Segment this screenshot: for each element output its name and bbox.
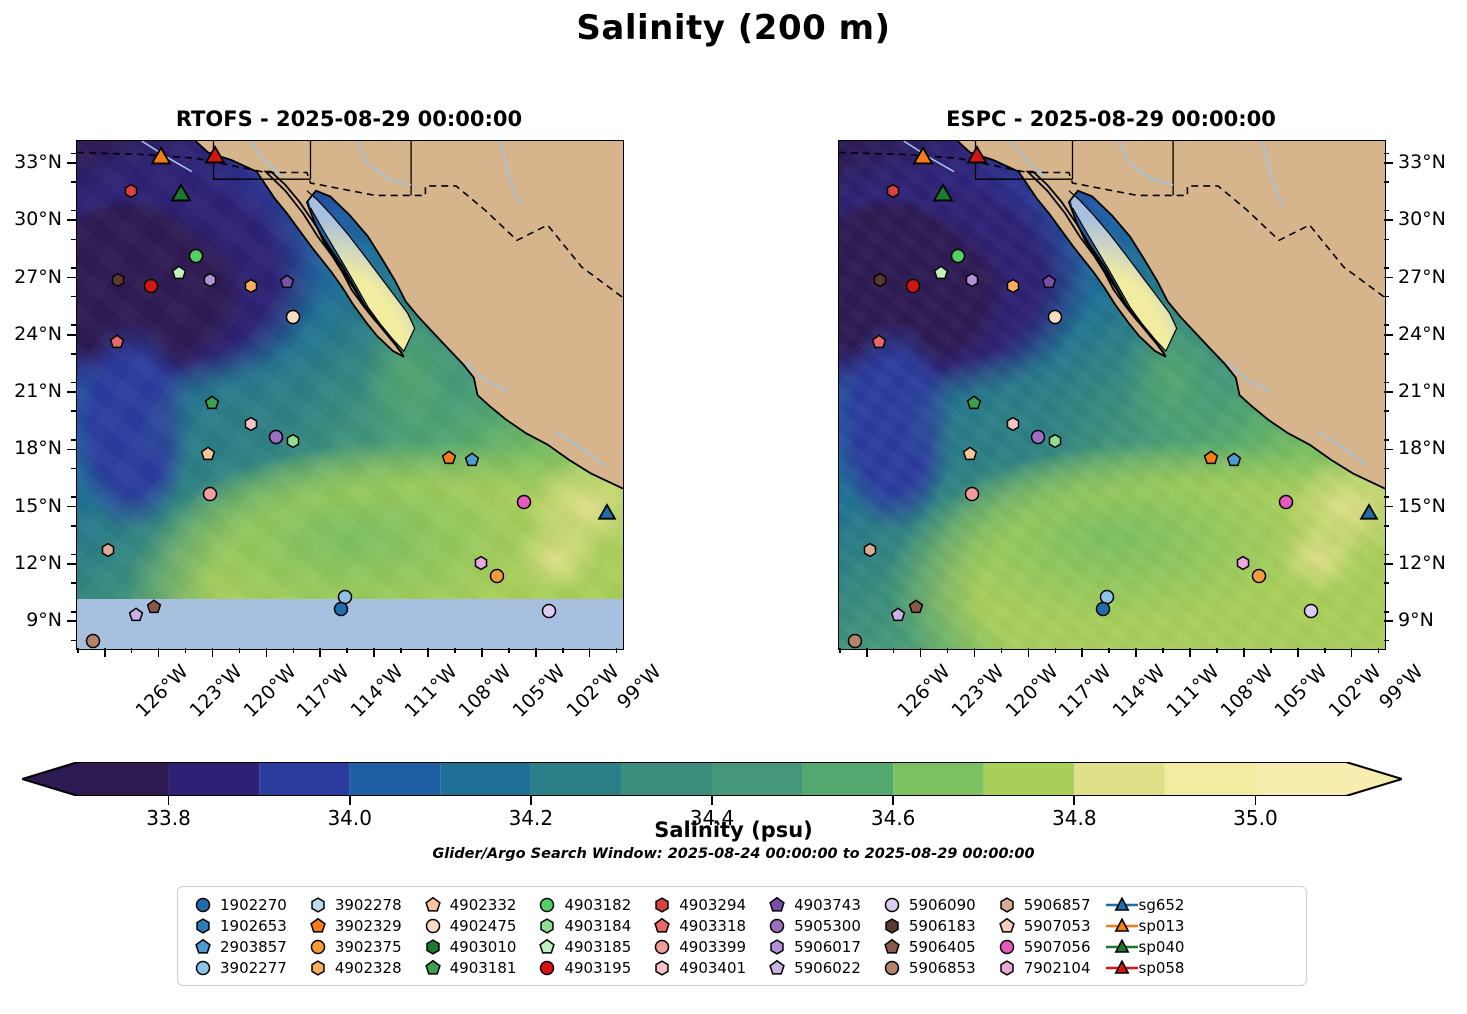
legend-item-5906183[interactable]: 5906183: [875, 915, 976, 936]
marker-1902270[interactable]: [1094, 600, 1111, 617]
colorbar-tick: [530, 796, 532, 805]
legend-marker-4903294: [645, 894, 679, 915]
legend-label: 5906857: [1024, 896, 1091, 914]
legend-item-4903195[interactable]: 4903195: [530, 957, 631, 978]
marker-4903399[interactable]: [963, 486, 980, 503]
legend-item-5906090[interactable]: 5906090: [875, 894, 976, 915]
colorbar-segment: [984, 762, 1075, 796]
legend-item-4903294[interactable]: 4903294: [645, 894, 746, 915]
x-axis-label: 99°W: [614, 662, 665, 713]
legend-label: 4903318: [679, 917, 746, 935]
marker-sp040[interactable]: [170, 184, 191, 205]
x-minor-tick: [77, 648, 79, 653]
marker-sp013[interactable]: [913, 147, 934, 168]
legend-marker-1902653: [186, 915, 220, 936]
marker-4903184[interactable]: [1046, 433, 1062, 449]
colorbar-segment: [621, 762, 712, 796]
colorbar-extend-max: [1346, 762, 1402, 796]
marker-3902329[interactable]: [441, 450, 457, 466]
marker-3902329[interactable]: [1203, 450, 1219, 466]
marker-5906405[interactable]: [146, 599, 162, 615]
legend-marker-5907056: [990, 936, 1024, 957]
marker-5907056[interactable]: [516, 493, 533, 510]
colorbar-segment: [1165, 762, 1256, 796]
marker-4903182[interactable]: [949, 247, 966, 264]
y-minor-tick: [1384, 382, 1389, 384]
y-minor-tick: [1384, 410, 1389, 412]
legend-label: 4903399: [679, 938, 746, 956]
legend-item-1902270[interactable]: 1902270: [186, 894, 287, 915]
legend-item-7902104[interactable]: 7902104: [990, 957, 1091, 978]
legend-marker-4903401: [645, 957, 679, 978]
legend-label: 3902329: [335, 917, 402, 935]
x-axis-label: 120°W: [1002, 662, 1061, 721]
y-axis-label: 30°N: [0, 210, 62, 229]
legend-item-4903182[interactable]: 4903182: [530, 894, 631, 915]
x-minor-tick: [1108, 648, 1110, 653]
legend-marker-5906405: [875, 936, 909, 957]
legend-item-4903743[interactable]: 4903743: [760, 894, 861, 915]
marker-4903743[interactable]: [279, 274, 295, 290]
legend-label: 4903294: [679, 896, 746, 914]
legend-marker-sp013: [1105, 915, 1139, 936]
legend-item-5906853[interactable]: 5906853: [875, 957, 976, 978]
y-minor-tick: [71, 382, 76, 384]
legend-marker-5905300: [760, 915, 794, 936]
legend-label: sp058: [1139, 959, 1185, 977]
y-minor-tick: [71, 181, 76, 183]
marker-4903743[interactable]: [1041, 274, 1057, 290]
legend-label: 4903182: [564, 896, 631, 914]
marker-4903294[interactable]: [123, 182, 139, 198]
x-tick: [373, 648, 375, 657]
x-minor-tick: [562, 648, 564, 653]
y-tick: [1384, 391, 1393, 393]
x-tick: [481, 648, 483, 657]
colorbar-segment: [712, 762, 803, 796]
y-axis-label: 21°N: [0, 382, 62, 401]
y-minor-tick: [1384, 525, 1389, 527]
coastline-overlay: [77, 141, 623, 649]
y-minor-tick: [1384, 468, 1389, 470]
marker-5906183[interactable]: [110, 272, 126, 288]
legend-marker-1902270: [186, 894, 220, 915]
y-axis-label: 27°N: [1398, 268, 1467, 287]
legend-item-5906405[interactable]: 5906405: [875, 936, 976, 957]
colorbar-segment: [1074, 762, 1165, 796]
y-axis-label: 21°N: [1398, 382, 1467, 401]
legend-item-sp040[interactable]: sp040: [1105, 936, 1185, 957]
y-minor-tick: [71, 239, 76, 241]
marker-5906022[interactable]: [890, 606, 906, 622]
marker-sp040[interactable]: [932, 184, 953, 205]
marker-5906853[interactable]: [846, 633, 863, 650]
legend-column: 4903294490331849033994903401: [645, 894, 746, 978]
y-minor-tick: [71, 611, 76, 613]
platform-legend: 1902270190265329038573902277390227839023…: [177, 886, 1307, 986]
x-tick: [1189, 648, 1191, 657]
marker-5906022[interactable]: [128, 606, 144, 622]
x-axis-label: 117°W: [1056, 662, 1115, 721]
x-axis-label: 123°W: [949, 662, 1008, 721]
marker-sg652[interactable]: [597, 504, 616, 523]
x-axis-label: 126°W: [133, 662, 192, 721]
y-tick: [67, 277, 76, 279]
legend-item-4902475[interactable]: 4902475: [416, 915, 517, 936]
legend-marker-3902329: [301, 915, 335, 936]
marker-5906857[interactable]: [99, 541, 115, 557]
marker-2903857[interactable]: [464, 452, 480, 468]
y-axis-label: 24°N: [1398, 325, 1467, 344]
legend-label: 4903184: [564, 917, 631, 935]
x-axis-label: 114°W: [348, 662, 407, 721]
colorbar-tick: [1255, 796, 1257, 805]
x-tick: [1243, 648, 1245, 657]
x-axis-label: 117°W: [294, 662, 353, 721]
legend-marker-3902375: [301, 936, 335, 957]
y-axis-label: 9°N: [0, 611, 62, 630]
y-minor-tick: [1384, 611, 1389, 613]
x-minor-tick: [508, 648, 510, 653]
colorbar-segment: [893, 762, 984, 796]
x-minor-tick: [346, 648, 348, 653]
y-axis-label: 18°N: [1398, 439, 1467, 458]
marker-4903182[interactable]: [187, 247, 204, 264]
x-tick: [1297, 648, 1299, 657]
colorbar-segment: [531, 762, 622, 796]
y-minor-tick: [1384, 153, 1389, 155]
y-minor-tick: [71, 496, 76, 498]
colorbar-tick: [892, 796, 894, 805]
y-tick: [1384, 334, 1393, 336]
legend-item-4903184[interactable]: 4903184: [530, 915, 631, 936]
legend-item-4902328[interactable]: 4902328: [301, 957, 402, 978]
y-minor-tick: [71, 640, 76, 642]
legend-marker-4902475: [416, 915, 450, 936]
legend-marker-sp040: [1105, 936, 1139, 957]
colorbar-tick: [711, 796, 713, 805]
marker-4903401[interactable]: [1005, 415, 1021, 431]
map-espc[interactable]: [838, 140, 1386, 650]
y-minor-tick: [71, 296, 76, 298]
y-tick: [1384, 219, 1393, 221]
marker-5906857[interactable]: [861, 541, 877, 557]
y-axis-label: 12°N: [0, 554, 62, 573]
marker-5906405[interactable]: [908, 599, 924, 615]
x-tick: [1081, 648, 1083, 657]
map-rtofs[interactable]: [76, 140, 624, 650]
y-minor-tick: [71, 582, 76, 584]
marker-4902475[interactable]: [284, 308, 301, 325]
x-minor-tick: [239, 648, 241, 653]
x-minor-tick: [1162, 648, 1164, 653]
legend-label: 5906090: [909, 896, 976, 914]
legend-label: 4902328: [335, 959, 402, 977]
marker-4903181[interactable]: [204, 394, 220, 410]
y-minor-tick: [1384, 210, 1389, 212]
marker-sg652[interactable]: [1359, 504, 1378, 523]
marker-5906017[interactable]: [202, 272, 218, 288]
legend-column: 3902278390232939023754902328: [301, 894, 402, 978]
y-minor-tick: [1384, 496, 1389, 498]
y-axis-label: 15°N: [0, 497, 62, 516]
marker-5906853[interactable]: [84, 633, 101, 650]
marker-4903185[interactable]: [171, 265, 187, 281]
legend-marker-7902104: [990, 957, 1024, 978]
legend-item-3902375[interactable]: 3902375: [301, 936, 402, 957]
marker-7902104[interactable]: [1235, 555, 1251, 571]
legend-item-4903181[interactable]: 4903181: [416, 957, 517, 978]
x-axis-label: 105°W: [1272, 662, 1331, 721]
x-axis-label: 120°W: [240, 662, 299, 721]
legend-item-3902278[interactable]: 3902278: [301, 894, 402, 915]
colorbar-segment: [169, 762, 260, 796]
y-axis-label: 15°N: [1398, 497, 1467, 516]
x-minor-tick: [293, 648, 295, 653]
legend-marker-5907053: [990, 915, 1024, 936]
legend-label: 5906853: [909, 959, 976, 977]
legend-label: 5906022: [794, 959, 861, 977]
y-tick: [1384, 277, 1393, 279]
y-tick: [67, 449, 76, 451]
page-title: Salinity (200 m): [0, 8, 1467, 48]
y-minor-tick: [1384, 554, 1389, 556]
colorbar-tick: [349, 796, 351, 805]
legend-column: 4903182490318449031854903195: [530, 894, 631, 978]
legend-item-4903185[interactable]: 4903185: [530, 936, 631, 957]
marker-5906017[interactable]: [964, 272, 980, 288]
x-minor-tick: [131, 648, 133, 653]
legend-marker-3902278: [301, 894, 335, 915]
marker-5905300[interactable]: [1030, 428, 1047, 445]
x-axis-label: 114°W: [1110, 662, 1169, 721]
x-axis-label: 105°W: [510, 662, 569, 721]
marker-2903857[interactable]: [1226, 452, 1242, 468]
y-minor-tick: [71, 153, 76, 155]
x-minor-tick: [1216, 648, 1218, 653]
legend-item-5907056[interactable]: 5907056: [990, 936, 1091, 957]
legend-label: 5907056: [1024, 938, 1091, 956]
x-minor-tick: [1270, 648, 1272, 653]
colorbar-segment: [440, 762, 531, 796]
y-tick: [67, 391, 76, 393]
legend-label: 3902277: [220, 959, 287, 977]
marker-5906090[interactable]: [1303, 602, 1320, 619]
legend-marker-4903181: [416, 957, 450, 978]
y-tick: [1384, 620, 1393, 622]
legend-marker-2903857: [186, 936, 220, 957]
x-minor-tick: [893, 648, 895, 653]
x-minor-tick: [185, 648, 187, 653]
legend-marker-4903184: [530, 915, 564, 936]
marker-4903184[interactable]: [284, 433, 300, 449]
marker-4903399[interactable]: [201, 486, 218, 503]
legend-label: 5906017: [794, 938, 861, 956]
marker-4903318[interactable]: [870, 333, 886, 349]
x-tick: [1351, 648, 1353, 657]
x-tick: [920, 648, 922, 657]
y-minor-tick: [1384, 296, 1389, 298]
y-axis-label: 30°N: [1398, 210, 1467, 229]
marker-4902332[interactable]: [962, 446, 978, 462]
marker-4903195[interactable]: [904, 277, 921, 294]
marker-5907056[interactable]: [1278, 493, 1295, 510]
legend-item-3902277[interactable]: 3902277: [186, 957, 287, 978]
y-minor-tick: [71, 267, 76, 269]
legend-marker-4903182: [530, 894, 564, 915]
marker-3902375[interactable]: [489, 568, 506, 585]
legend-label: 3902278: [335, 896, 402, 914]
legend-item-5907053[interactable]: 5907053: [990, 915, 1091, 936]
legend-item-sp058[interactable]: sp058: [1105, 957, 1185, 978]
x-axis-label: 102°W: [1326, 662, 1385, 721]
legend-item-5905300[interactable]: 5905300: [760, 915, 861, 936]
marker-4902328[interactable]: [243, 278, 259, 294]
legend-marker-4903185: [530, 936, 564, 957]
legend-grid: 1902270190265329038573902277390227839023…: [186, 894, 1298, 978]
legend-label: 5905300: [794, 917, 861, 935]
x-axis-label: 111°W: [1164, 662, 1223, 721]
legend-marker-5906853: [875, 957, 909, 978]
y-minor-tick: [1384, 353, 1389, 355]
legend-marker-5906022: [760, 957, 794, 978]
y-tick: [1384, 506, 1393, 508]
x-axis-label: 108°W: [456, 662, 515, 721]
legend-column: 4902332490247549030104903181: [416, 894, 517, 978]
legend-item-3902329[interactable]: 3902329: [301, 915, 402, 936]
y-minor-tick: [1384, 439, 1389, 441]
x-axis-label: 123°W: [187, 662, 246, 721]
legend-label: 4902332: [450, 896, 517, 914]
marker-sp058[interactable]: [967, 146, 988, 167]
legend-marker-3902277: [186, 957, 220, 978]
legend-item-5906022[interactable]: 5906022: [760, 957, 861, 978]
x-minor-tick: [400, 648, 402, 653]
x-tick: [212, 648, 214, 657]
legend-label: 1902270: [220, 896, 287, 914]
legend-item-5906857[interactable]: 5906857: [990, 894, 1091, 915]
marker-4903294[interactable]: [885, 182, 901, 198]
y-minor-tick: [1384, 640, 1389, 642]
legend-item-5906017[interactable]: 5906017: [760, 936, 861, 957]
marker-sp013[interactable]: [151, 147, 172, 168]
marker-4903195[interactable]: [142, 277, 159, 294]
panel-title-espc: ESPC - 2025-08-29 00:00:00: [838, 107, 1384, 131]
marker-5906183[interactable]: [872, 272, 888, 288]
marker-4903185[interactable]: [933, 265, 949, 281]
legend-item-4902332[interactable]: 4902332: [416, 894, 517, 915]
marker-4902332[interactable]: [200, 446, 216, 462]
x-tick: [974, 648, 976, 657]
legend-label: 4903185: [564, 938, 631, 956]
legend-item-sg652[interactable]: sg652: [1105, 894, 1185, 915]
marker-4902475[interactable]: [1046, 308, 1063, 325]
legend-item-4903401[interactable]: 4903401: [645, 957, 746, 978]
y-tick: [1384, 449, 1393, 451]
marker-sp058[interactable]: [205, 146, 226, 167]
y-tick: [67, 219, 76, 221]
legend-item-sp013[interactable]: sp013: [1105, 915, 1185, 936]
colorbar-segment: [78, 762, 169, 796]
x-axis-label: 111°W: [402, 662, 461, 721]
colorbar-svg: [22, 762, 1402, 796]
legend-item-4903318[interactable]: 4903318: [645, 915, 746, 936]
legend-item-1902653[interactable]: 1902653: [186, 915, 287, 936]
colorbar-segment: [350, 762, 441, 796]
marker-4902328[interactable]: [1005, 278, 1021, 294]
y-minor-tick: [71, 554, 76, 556]
legend-marker-4903399: [645, 936, 679, 957]
y-tick: [67, 334, 76, 336]
x-tick: [427, 648, 429, 657]
colorbar-segment: [259, 762, 350, 796]
y-tick: [1384, 563, 1393, 565]
y-axis-label: 33°N: [1398, 153, 1467, 172]
y-minor-tick: [71, 468, 76, 470]
legend-marker-5906017: [760, 936, 794, 957]
y-minor-tick: [71, 210, 76, 212]
marker-4903318[interactable]: [108, 333, 124, 349]
x-minor-tick: [839, 648, 841, 653]
legend-marker-4902328: [301, 957, 335, 978]
legend-column: 1902270190265329038573902277: [186, 894, 287, 978]
colorbar-extend-min: [22, 762, 78, 796]
y-axis-label: 18°N: [0, 439, 62, 458]
x-minor-tick: [1378, 648, 1380, 653]
x-minor-tick: [616, 648, 618, 653]
x-axis-label: 108°W: [1218, 662, 1277, 721]
x-minor-tick: [454, 648, 456, 653]
legend-label: 3902375: [335, 938, 402, 956]
x-axis-label: 99°W: [1376, 662, 1427, 713]
y-axis-label: 27°N: [0, 268, 62, 287]
marker-4903401[interactable]: [243, 415, 259, 431]
search-window-caption: Glider/Argo Search Window: 2025-08-24 00…: [0, 846, 1467, 862]
x-axis-label: 102°W: [564, 662, 623, 721]
x-tick: [319, 648, 321, 657]
legend-marker-5906183: [875, 915, 909, 936]
marker-1902270[interactable]: [332, 600, 349, 617]
legend-item-2903857[interactable]: 2903857: [186, 936, 287, 957]
marker-4903181[interactable]: [966, 394, 982, 410]
y-minor-tick: [1384, 239, 1389, 241]
legend-label: sp040: [1139, 938, 1185, 956]
y-axis-label: 24°N: [0, 325, 62, 344]
x-minor-tick: [1001, 648, 1003, 653]
marker-3902375[interactable]: [1251, 568, 1268, 585]
marker-5906090[interactable]: [541, 602, 558, 619]
legend-label: 7902104: [1024, 959, 1091, 977]
y-axis-label: 12°N: [1398, 554, 1467, 573]
x-minor-tick: [1324, 648, 1326, 653]
y-tick: [67, 620, 76, 622]
legend-item-4903399[interactable]: 4903399: [645, 936, 746, 957]
legend-marker-4902332: [416, 894, 450, 915]
legend-item-4903010[interactable]: 4903010: [416, 936, 517, 957]
colorbar-segment: [803, 762, 894, 796]
colorbar-tick: [1073, 796, 1075, 805]
marker-7902104[interactable]: [473, 555, 489, 571]
x-tick: [158, 648, 160, 657]
x-tick: [104, 648, 106, 657]
legend-label: sg652: [1139, 896, 1185, 914]
y-axis-label: 33°N: [0, 153, 62, 172]
colorbar: 33.834.034.234.434.634.835.0: [22, 762, 1402, 796]
legend-label: 4903010: [450, 938, 517, 956]
marker-5905300[interactable]: [268, 428, 285, 445]
x-tick: [266, 648, 268, 657]
y-minor-tick: [71, 439, 76, 441]
